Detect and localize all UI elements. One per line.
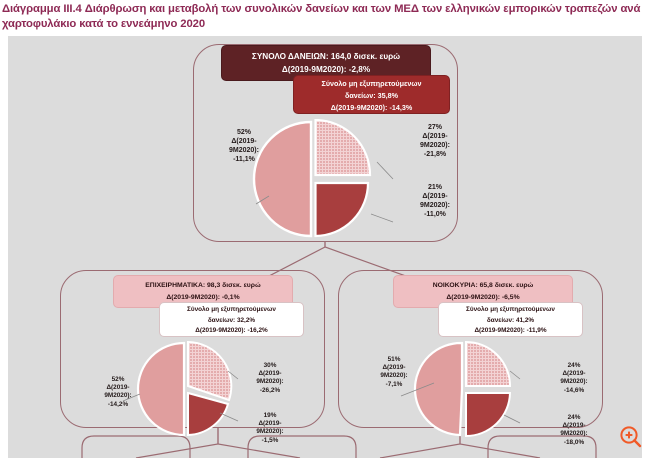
page-title: Διάγραμμα III.4 Διάρθρωση και μεταβολή τ… — [0, 0, 650, 32]
business-npl-line3: Δ(2019-9Μ2020): -16,2% — [160, 326, 303, 337]
total-pie-label-27: 27% Δ(2019- 9Μ2020): -21,8% — [404, 124, 466, 160]
households-npl-line1: Σύνολο μη εξυπηρετούμενων — [439, 305, 582, 316]
business-pie-label-30: 30% Δ(2019- 9Μ2020): -26,2% — [242, 362, 298, 395]
total-npl-line1: Σύνολο μη εξυπηρετούμενων — [294, 78, 449, 90]
households-pie-label-24-a: 24% Δ(2019- 9Μ2020): -14,6% — [546, 362, 602, 395]
diagram-page: Διάγραμμα III.4 Διάρθρωση και μεταβολή τ… — [0, 0, 650, 458]
households-npl-box: Σύνολο μη εξυπηρετούμενων δανείων: 41,2%… — [438, 302, 583, 337]
business-npl-line1: Σύνολο μη εξυπηρετούμενων — [160, 305, 303, 316]
business-pie-label-52: 52% Δ(2019- 9Μ2020): -14,2% — [90, 376, 146, 409]
business-npl-line2: δανείων: 32,2% — [160, 316, 303, 327]
total-pie-label-21: 21% Δ(2019- 9Μ2020): -11,0% — [404, 184, 466, 220]
households-npl-line2: δανείων: 41,2% — [439, 316, 582, 327]
households-npl-line3: Δ(2019-9Μ2020): -11,9% — [439, 326, 582, 337]
business-npl-box: Σύνολο μη εξυπηρετούμενων δανείων: 32,2%… — [159, 302, 304, 337]
total-loans-header-line1: ΣΥΝΟΛΟ ΔΑΝΕΙΩΝ: 164,0 δισεκ. ευρώ — [222, 50, 430, 63]
business-header-line1: ΕΠΙΧΕΙΡΗΜΑΤΙΚΑ: 98,3 δισεκ. ευρώ — [114, 280, 292, 292]
total-pie-label-52: 52% Δ(2019- 9Μ2020): -11,1% — [213, 129, 275, 165]
total-npl-line2: δανείων: 35,8% — [294, 90, 449, 102]
business-pie-label-19: 19% Δ(2019- 9Μ2020): -1,5% — [242, 412, 298, 445]
total-npl-line3: Δ(2019-9Μ2020): -14,3% — [294, 102, 449, 114]
households-pie-label-51: 51% Δ(2019- 9Μ2020): -7,1% — [366, 356, 422, 389]
zoom-in-icon[interactable] — [618, 424, 644, 450]
diagram-canvas: ΣΥΝΟΛΟ ΔΑΝΕΙΩΝ: 164,0 δισεκ. ευρώ Δ(2019… — [8, 36, 642, 458]
households-pie-label-24-b: 24% Δ(2019- 9Μ2020): -18,0% — [546, 414, 602, 447]
total-loans-npl-box: Σύνολο μη εξυπηρετούμενων δανείων: 35,8%… — [293, 75, 450, 114]
households-header-line1: ΝΟΙΚΟΚΥΡΙΑ: 65,8 δισεκ. ευρώ — [394, 280, 572, 292]
